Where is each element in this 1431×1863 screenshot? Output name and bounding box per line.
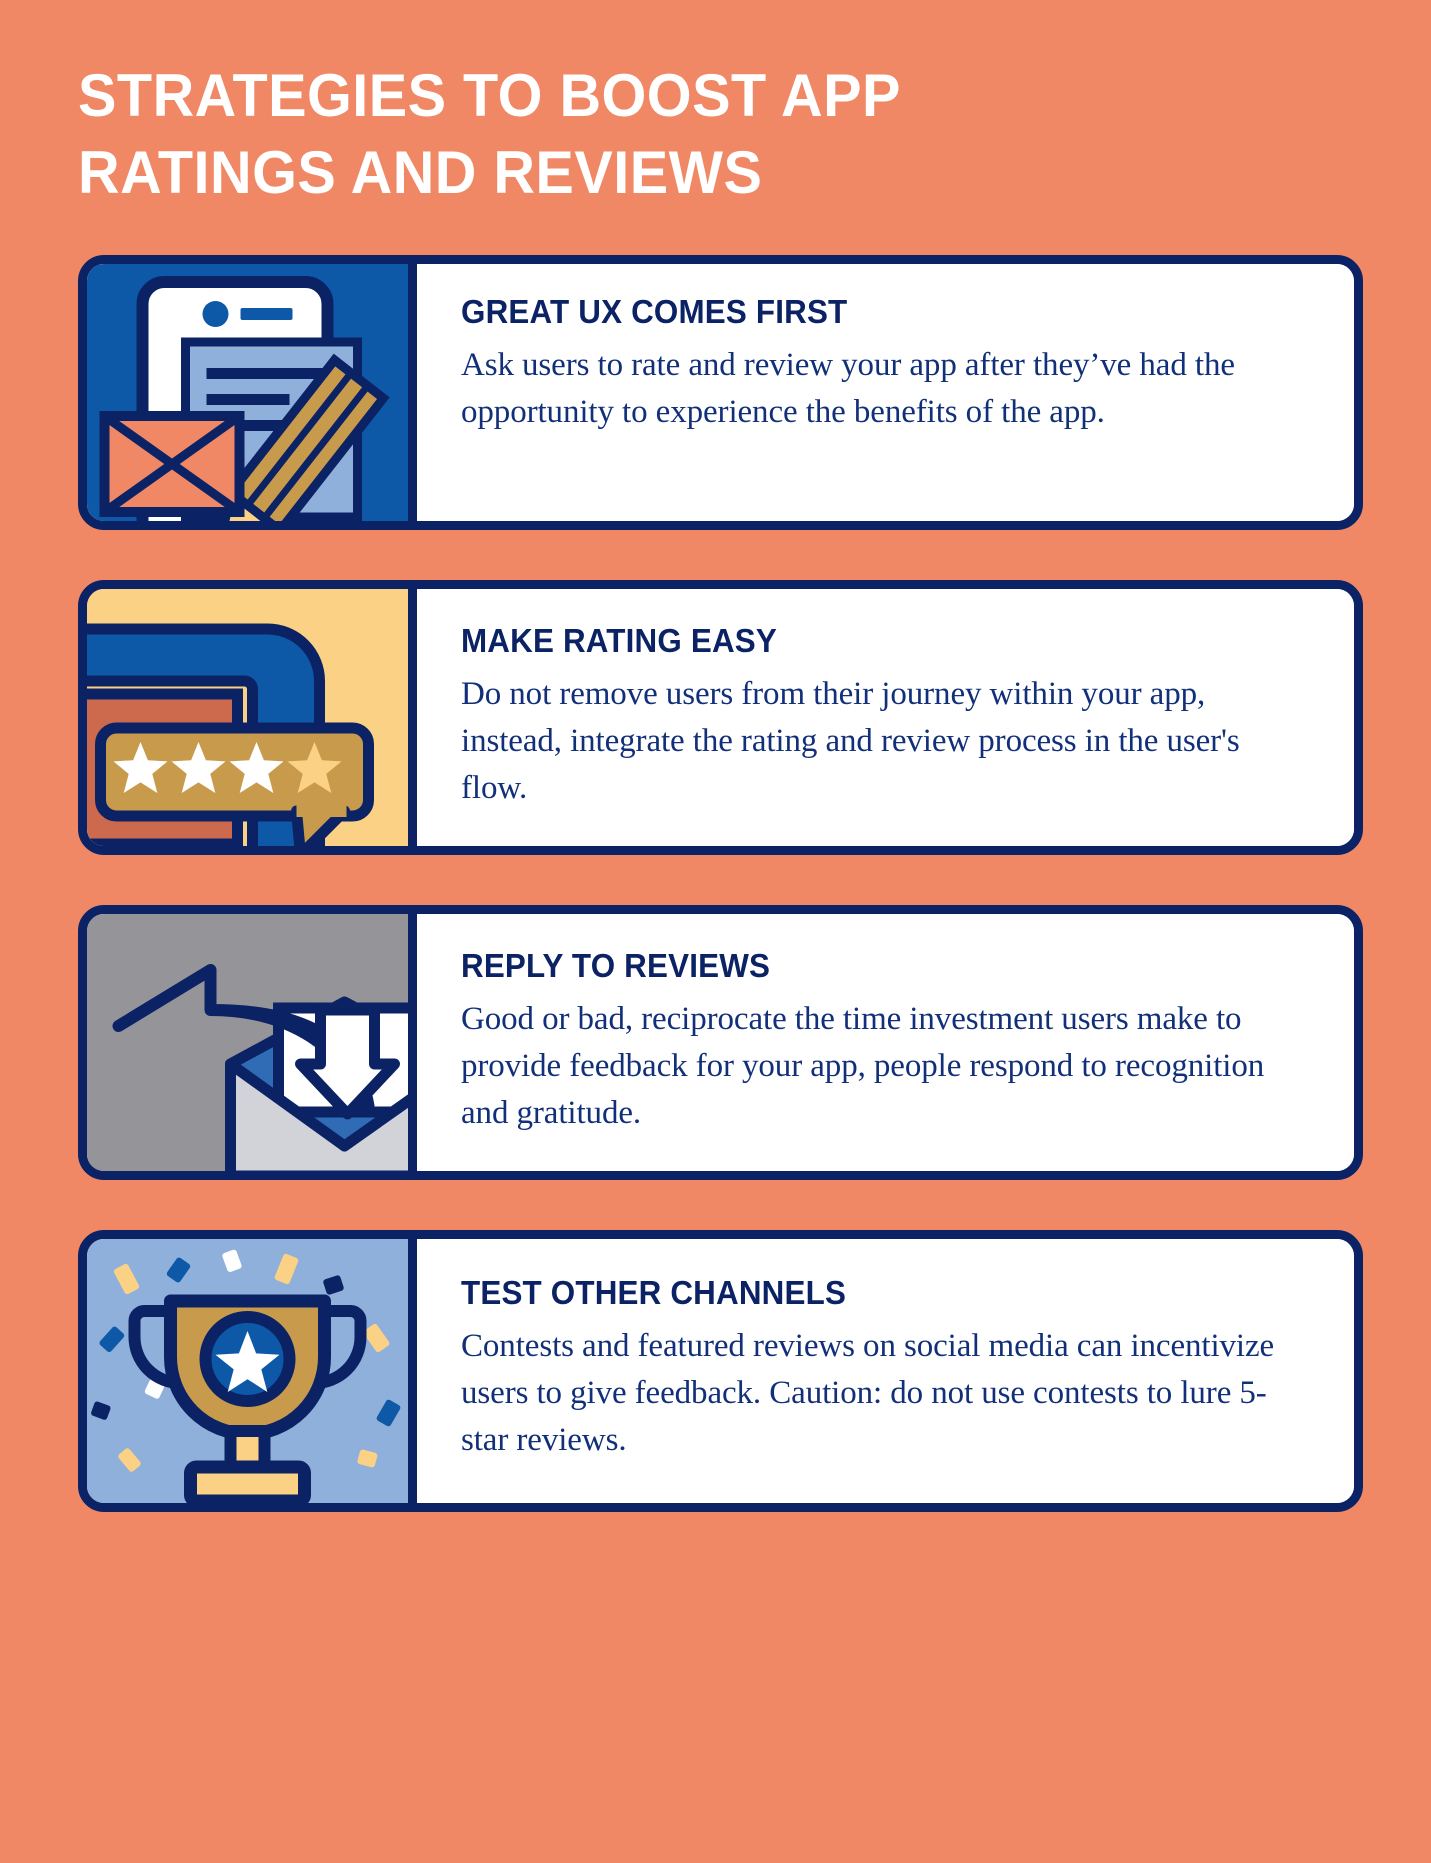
strategy-card-3: REPLY TO REVIEWS Good or bad, reciprocat… — [78, 905, 1363, 1180]
strategy-card-2: MAKE RATING EASY Do not remove users fro… — [78, 580, 1363, 855]
reply-arrow-envelope-icon — [87, 914, 408, 1171]
card-1-illustration — [87, 264, 417, 521]
strategy-card-1: GREAT UX COMES FIRST Ask users to rate a… — [78, 255, 1363, 530]
card-2-text: Do not remove users from their journey w… — [461, 671, 1310, 812]
phone-document-pencil-envelope-icon — [87, 264, 408, 521]
card-2-body: MAKE RATING EASY Do not remove users fro… — [417, 589, 1354, 846]
infographic-page: STRATEGIES TO BOOST APP RATINGS AND REVI… — [0, 0, 1431, 1863]
star-rating-speech-bubble-icon — [87, 589, 408, 846]
trophy-confetti-icon — [87, 1239, 408, 1503]
card-4-illustration — [87, 1239, 417, 1503]
card-4-text: Contests and featured reviews on social … — [461, 1323, 1310, 1464]
strategy-card-4: TEST OTHER CHANNELS Contests and feature… — [78, 1230, 1363, 1512]
card-4-body: TEST OTHER CHANNELS Contests and feature… — [417, 1239, 1354, 1503]
card-2-heading: MAKE RATING EASY — [461, 623, 1268, 659]
card-3-text: Good or bad, reciprocate the time invest… — [461, 996, 1310, 1137]
page-title: STRATEGIES TO BOOST APP RATINGS AND REVI… — [78, 58, 1086, 212]
card-1-body: GREAT UX COMES FIRST Ask users to rate a… — [417, 264, 1354, 521]
card-3-illustration — [87, 914, 417, 1171]
card-3-body: REPLY TO REVIEWS Good or bad, reciprocat… — [417, 914, 1354, 1171]
card-1-text: Ask users to rate and review your app af… — [461, 342, 1310, 436]
card-4-heading: TEST OTHER CHANNELS — [461, 1275, 1268, 1311]
card-1-heading: GREAT UX COMES FIRST — [461, 294, 1268, 330]
card-2-illustration — [87, 589, 417, 846]
card-3-heading: REPLY TO REVIEWS — [461, 948, 1268, 984]
